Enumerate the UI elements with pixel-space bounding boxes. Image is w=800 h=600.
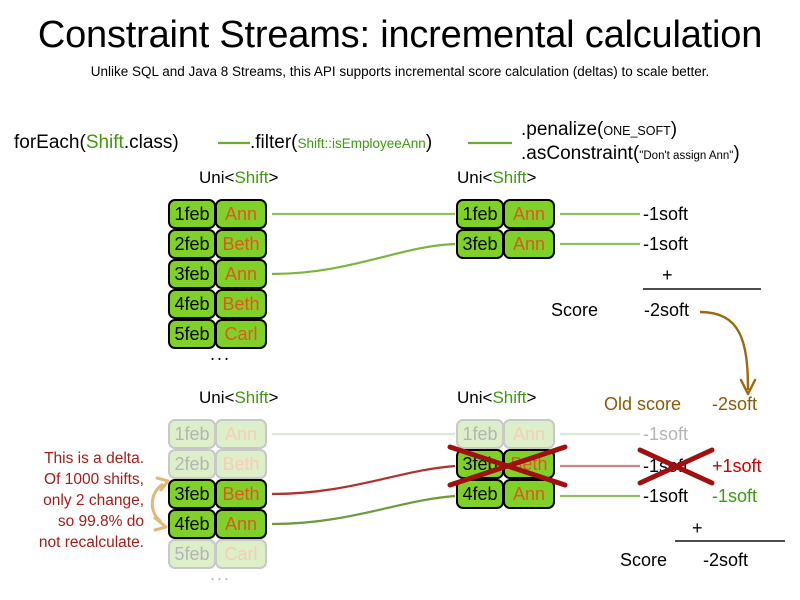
bottom-score-rule	[675, 540, 785, 542]
shift-employee-cell: Ann	[215, 199, 267, 229]
shift-row[interactable]: 1febAnn	[456, 419, 554, 449]
uni-suffix: >	[526, 388, 536, 407]
top-match-score-2: -1soft	[643, 234, 688, 255]
as-constraint-suffix: )	[733, 143, 739, 164]
shift-date-cell: 1feb	[168, 199, 216, 229]
shift-date-cell: 3feb	[456, 449, 504, 479]
shift-date-cell: 1feb	[168, 419, 216, 449]
shift-employee-cell: Ann	[503, 419, 555, 449]
shift-date-cell: 1feb	[456, 419, 504, 449]
shift-row[interactable]: 3febBeth	[456, 449, 554, 479]
shift-row[interactable]: 2febBeth	[168, 449, 266, 479]
uni-prefix: Uni<	[457, 168, 492, 187]
shift-row[interactable]: 2febBeth	[168, 229, 266, 259]
uni-prefix: Uni<	[199, 168, 234, 187]
uni-suffix: >	[268, 168, 278, 187]
shift-table-bottom-source-more: ...	[210, 564, 231, 585]
delta-note-line: Of 1000 shifts,	[4, 469, 144, 490]
shift-table-top-source-more: ...	[210, 344, 231, 365]
for-each-type: Shift	[86, 132, 124, 153]
delta-note-line: only 2 change,	[4, 490, 144, 511]
uni-type: Shift	[492, 388, 526, 407]
shift-date-cell: 1feb	[456, 199, 504, 229]
old-score-label: Old score	[604, 394, 681, 415]
shift-employee-cell: Ann	[503, 479, 555, 509]
shift-row[interactable]: 1febAnn	[456, 199, 554, 229]
as-constraint-prefix: .asConstraint(	[521, 143, 639, 164]
filter-suffix: )	[426, 132, 432, 153]
shift-date-cell: 3feb	[168, 479, 216, 509]
page-title: Constraint Streams: incremental calculat…	[0, 14, 800, 57]
stage-label-top-filtered: Uni<Shift>	[457, 168, 536, 188]
uni-prefix: Uni<	[199, 388, 234, 407]
delta-note-line: This is a delta.	[4, 448, 144, 469]
delta-note: This is a delta.Of 1000 shifts,only 2 ch…	[4, 448, 144, 553]
shift-date-cell: 3feb	[456, 229, 504, 259]
bottom-score-label: Score	[620, 550, 667, 571]
bottom-score-plus: +	[692, 518, 703, 539]
shift-employee-cell: Beth	[215, 479, 267, 509]
uni-suffix: >	[526, 168, 536, 187]
penalize-expression: .penalize(ONE_SOFT)	[521, 119, 677, 141]
bottom-match-score-2: -1soft	[643, 456, 688, 477]
shift-date-cell: 4feb	[456, 479, 504, 509]
shift-date-cell: 2feb	[168, 229, 216, 259]
for-each-expression: forEach(Shift.class)	[14, 132, 179, 154]
filter-prefix: .filter(	[250, 132, 298, 153]
top-score-total: -2soft	[644, 300, 689, 321]
slide-canvas: Constraint Streams: incremental calculat…	[0, 0, 800, 600]
shift-row[interactable]: 4febAnn	[168, 509, 266, 539]
shift-row[interactable]: 3febAnn	[168, 259, 266, 289]
shift-employee-cell: Beth	[215, 449, 267, 479]
shift-row[interactable]: 1febAnn	[168, 199, 266, 229]
for-each-prefix: forEach(	[14, 132, 86, 153]
shift-employee-cell: Ann	[215, 259, 267, 289]
old-score-value: -2soft	[712, 394, 757, 415]
uni-prefix: Uni<	[457, 388, 492, 407]
penalize-arg: ONE_SOFT	[603, 124, 670, 138]
top-score-label: Score	[551, 300, 598, 321]
shift-date-cell: 5feb	[168, 539, 216, 569]
shift-table-top-filtered: 1febAnn3febAnn	[456, 199, 554, 259]
shift-table-bottom-source: 1febAnn2febBeth3febBeth4febAnn5febCarl	[168, 419, 266, 569]
filter-expression: .filter(Shift::isEmployeeAnn)	[250, 132, 432, 154]
shift-employee-cell: Ann	[503, 199, 555, 229]
shift-row[interactable]: 4febAnn	[456, 479, 554, 509]
shift-employee-cell: Ann	[215, 509, 267, 539]
shift-date-cell: 5feb	[168, 319, 216, 349]
shift-table-bottom-filtered: 1febAnn3febBeth4febAnn	[456, 419, 554, 509]
uni-type: Shift	[234, 388, 268, 407]
shift-date-cell: 2feb	[168, 449, 216, 479]
uni-type: Shift	[234, 168, 268, 187]
stage-label-bottom-source: Uni<Shift>	[199, 388, 278, 408]
uni-type: Shift	[492, 168, 526, 187]
bottom-match-score-3: -1soft	[643, 486, 688, 507]
filter-method-ref: Shift::isEmployeeAnn	[298, 136, 426, 151]
shift-row[interactable]: 3febBeth	[168, 479, 266, 509]
shift-date-cell: 4feb	[168, 509, 216, 539]
bottom-delta-score-2: +1soft	[712, 456, 762, 477]
top-score-plus: +	[662, 265, 673, 286]
shift-employee-cell: Beth	[215, 229, 267, 259]
bottom-score-total: -2soft	[703, 550, 748, 571]
stage-label-bottom-filtered: Uni<Shift>	[457, 388, 536, 408]
shift-date-cell: 3feb	[168, 259, 216, 289]
shift-row[interactable]: 4febBeth	[168, 289, 266, 319]
shift-employee-cell: Beth	[503, 449, 555, 479]
shift-table-top-source: 1febAnn2febBeth3febAnn4febBeth5febCarl	[168, 199, 266, 349]
stage-label-top-source: Uni<Shift>	[199, 168, 278, 188]
penalize-prefix: .penalize(	[521, 119, 603, 140]
bottom-delta-score-3: -1soft	[712, 486, 757, 507]
penalize-suffix: )	[671, 119, 677, 140]
delta-note-line: not recalculate.	[4, 532, 144, 553]
as-constraint-expression: .asConstraint("Don't assign Ann")	[521, 143, 740, 165]
shift-row[interactable]: 1febAnn	[168, 419, 266, 449]
shift-employee-cell: Beth	[215, 289, 267, 319]
shift-employee-cell: Ann	[215, 419, 267, 449]
shift-row[interactable]: 3febAnn	[456, 229, 554, 259]
as-constraint-arg: "Don't assign Ann"	[639, 150, 733, 162]
delta-note-line: so 99.8% do	[4, 511, 144, 532]
bottom-match-score-1: -1soft	[643, 424, 688, 445]
shift-date-cell: 4feb	[168, 289, 216, 319]
uni-suffix: >	[268, 388, 278, 407]
top-match-score-1: -1soft	[643, 204, 688, 225]
shift-employee-cell: Ann	[503, 229, 555, 259]
top-score-rule	[643, 288, 761, 290]
for-each-suffix: .class)	[124, 132, 179, 153]
page-subtitle: Unlike SQL and Java 8 Streams, this API …	[0, 64, 800, 79]
